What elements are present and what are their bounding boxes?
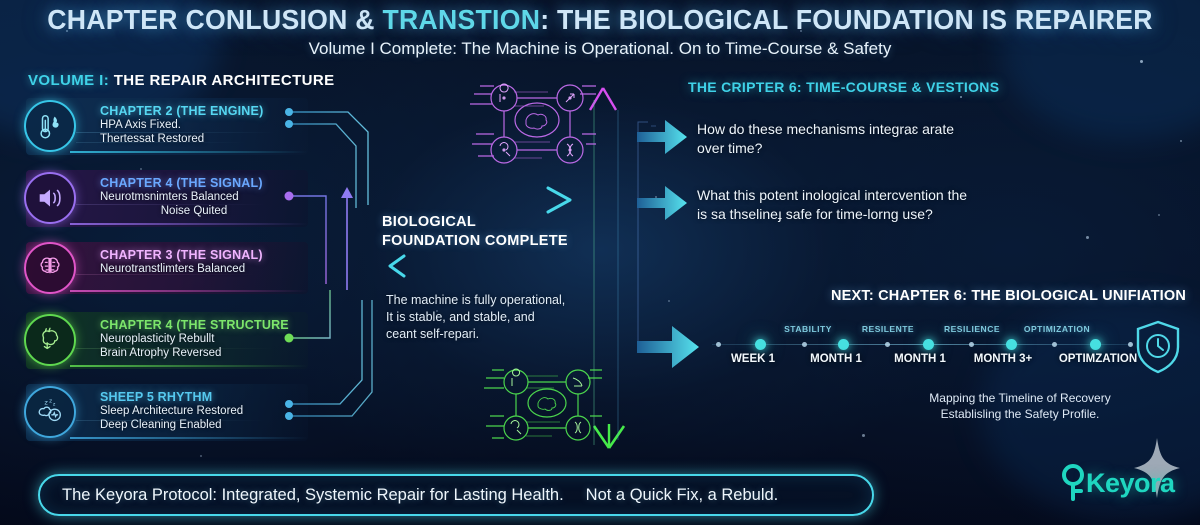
- timeline-top-label: RESILENTE: [862, 324, 914, 334]
- left-column-heading: VOLUME I: THE REPAIR ARCHITECTURE: [28, 72, 335, 89]
- left-heading-rest: THE REPAIR ARCHITECTURE: [114, 72, 335, 89]
- left-heading-volume: VOLUME I:: [28, 72, 109, 89]
- network-diagram-bottom: [478, 358, 608, 458]
- timeline-top-label: STABILITY: [784, 324, 832, 334]
- svg-text:z: z: [53, 402, 56, 407]
- timeline-dot[interactable]: [1006, 339, 1017, 350]
- question-2-line1: What this potent inological intercventio…: [697, 186, 967, 205]
- card-title: SHEEP 5 RHYTHM: [100, 390, 308, 404]
- timeline-bottom-label: MONTH 1: [894, 353, 946, 365]
- card-title: CHAPTER 2 (THE ENGINE): [100, 104, 308, 118]
- question-1-line2: over time?: [697, 139, 954, 158]
- chapter-card-5[interactable]: z z z SHEEP 5 RHYTHM Sleep Architecture …: [26, 384, 308, 441]
- thermometer-flame-icon: [24, 100, 76, 152]
- center-label-line1: BIOLOGICAL: [382, 213, 568, 232]
- timeline-top-label: OPTIMIZATION: [1024, 324, 1090, 334]
- timeline-dot[interactable]: [755, 339, 766, 350]
- infographic-canvas: CHAPTER CONLUSION & TRANSTION: THE BIOLO…: [0, 0, 1200, 525]
- card-line-1: HPA Axis Fixed.: [100, 118, 308, 132]
- question-1-line1: How do these mechanisms integraɛ arate: [697, 120, 954, 139]
- recovery-timeline: STABILITY RESILENTE RESILIENCE OPTIMIZAT…: [712, 324, 1132, 368]
- center-body-line2: It is stable, and stable, and: [386, 309, 565, 326]
- card-title: CHAPTER 3 (THE SIGNAL): [100, 248, 308, 262]
- timeline-dot[interactable]: [838, 339, 849, 350]
- footer-text-left: The Keyora Protocol: Integrated, Systemi…: [62, 486, 564, 504]
- question-arrow-1: [637, 120, 687, 154]
- timeline-bottom-label: OPTIMZATION: [1059, 353, 1137, 365]
- timeline-caption-line2: Establisling the Safety Profile.: [900, 406, 1140, 422]
- card-title: CHAPTER 4 (THE SIGNAL): [100, 176, 308, 190]
- timeline-bottom-label: MONTH 3+: [974, 353, 1032, 365]
- center-label: BIOLOGICAL FOUNDATION COMPLETE: [382, 213, 568, 251]
- card-line-2: Noise Quited: [100, 204, 308, 218]
- question-2: What this potent inological intercventio…: [697, 186, 967, 224]
- timeline-dot[interactable]: [923, 339, 934, 350]
- brain-growth-icon: [24, 314, 76, 366]
- question-1: How do these mechanisms integraɛ arate o…: [697, 120, 954, 158]
- footer-text-right: Not a Quick Fix, a Rebuld.: [586, 486, 779, 504]
- question-arrow-2: [637, 186, 687, 220]
- brand-wordmark: Keyora: [1086, 468, 1175, 499]
- card-line-1: Sleep Architecture Restored: [100, 404, 308, 418]
- timeline-bottom-label: WEEK 1: [731, 353, 775, 365]
- chapter-card-1[interactable]: CHAPTER 2 (THE ENGINE) HPA Axis Fixed. T…: [26, 98, 308, 155]
- question-2-line2: is sa thselineɟ safe for time-lorng use?: [697, 205, 967, 224]
- card-title: CHAPTER 4 (THE STRUCTURE: [100, 318, 308, 332]
- timeline-dot[interactable]: [1090, 339, 1101, 350]
- page-title: CHAPTER CONLUSION & TRANSTION: THE BIOLO…: [30, 4, 1170, 36]
- card-line-2: Thertessat Restored: [100, 132, 308, 146]
- right-column-heading: THE CRIPTER 6: TIME-COURSE & VESTIONS: [688, 79, 999, 95]
- timeline-caption-line1: Mapping the Timeline of Recovery: [900, 390, 1140, 406]
- footer-banner: The Keyora Protocol: Integrated, Systemi…: [38, 474, 874, 516]
- timeline-bottom-label: MONTH 1: [810, 353, 862, 365]
- speaker-icon: [24, 172, 76, 224]
- svg-text:z: z: [49, 399, 52, 405]
- chapter-card-4[interactable]: CHAPTER 4 (THE STRUCTURE Neuroplasticity…: [26, 312, 308, 369]
- page-title-part1: CHAPTER CONLUSION &: [47, 4, 382, 35]
- chapter-card-3[interactable]: CHAPTER 3 (THE SIGNAL) Neurotranstlimter…: [26, 242, 308, 294]
- center-body-line3: ceant self-repari.: [386, 326, 565, 343]
- chapter-card-2[interactable]: CHAPTER 4 (THE SIGNAL) Neurotmsnimters B…: [26, 170, 308, 227]
- page-subtitle: Volume I Complete: The Machine is Operat…: [0, 39, 1200, 59]
- question-arrow-3: [637, 326, 699, 368]
- svg-text:z: z: [44, 399, 48, 407]
- card-line-1: Neuroplasticity Rebullt: [100, 332, 308, 346]
- page-title-accent: TRANSTION: [382, 4, 540, 35]
- next-chapter-heading: NEXT: CHAPTER 6: THE BIOLOGICAL UNIFIATI…: [831, 288, 1186, 304]
- page-title-part2: : THE BIOLOGICAL FOUNDATION IS REPAIRER: [540, 4, 1153, 35]
- sleep-brain-icon: z z z: [24, 386, 76, 438]
- center-label-line2: FOUNDATION COMPLETE: [382, 232, 568, 251]
- center-body-line1: The machine is fully operational,: [386, 292, 565, 309]
- footer-text: The Keyora Protocol: Integrated, Systemi…: [40, 486, 778, 505]
- card-line-1: Neurotmsnimters Balanced: [100, 190, 308, 204]
- timeline-top-label: RESILIENCE: [944, 324, 1000, 334]
- timeline-caption: Mapping the Timeline of Recovery Establi…: [900, 390, 1140, 422]
- center-body-text: The machine is fully operational, It is …: [386, 292, 565, 343]
- brain-icon: [24, 242, 76, 294]
- network-diagram-top: [462, 72, 602, 182]
- shield-clock-icon: [1132, 318, 1184, 376]
